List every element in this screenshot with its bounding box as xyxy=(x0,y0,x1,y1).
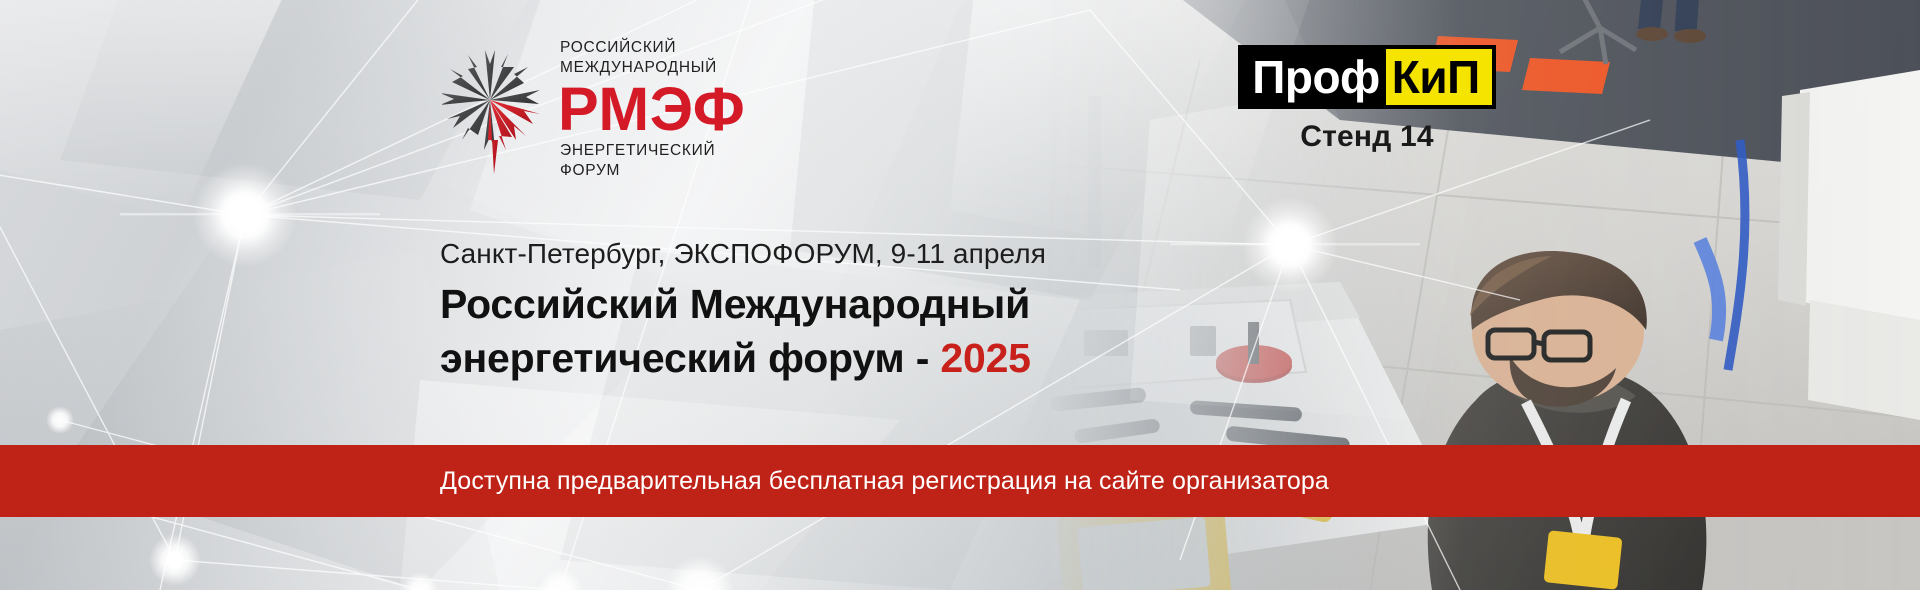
event-year: 2025 xyxy=(940,335,1030,381)
registration-notice-text: Доступна предварительная бесплатная реги… xyxy=(440,467,1329,496)
event-banner: РОССИЙСКИЙ МЕЖДУНАРОДНЫЙ РМЭФ ЭНЕРГЕТИЧЕ… xyxy=(0,0,1920,590)
profkip-logo[interactable]: Проф КиП xyxy=(1238,45,1495,109)
event-title-line-1: Российский Международный xyxy=(440,278,1340,330)
rmef-logo: РОССИЙСКИЙ МЕЖДУНАРОДНЫЙ РМЭФ ЭНЕРГЕТИЧЕ… xyxy=(442,38,745,181)
event-title-line-2: энергетический форум - 2025 xyxy=(440,332,1340,384)
rmef-line-energy: ЭНЕРГЕТИЧЕСКИЙ xyxy=(560,141,745,161)
event-title-line-2-text: энергетический форум - xyxy=(440,335,940,381)
registration-notice-strip: Доступна предварительная бесплатная реги… xyxy=(0,445,1920,517)
rmef-acronym: РМЭФ xyxy=(558,80,745,140)
rmef-wordmark: РОССИЙСКИЙ МЕЖДУНАРОДНЫЙ РМЭФ ЭНЕРГЕТИЧЕ… xyxy=(560,38,745,181)
profkip-logo-kip: КиП xyxy=(1386,49,1492,105)
rmef-line-forum: ФОРУМ xyxy=(560,161,745,181)
event-location-date: Санкт-Петербург, ЭКСПОФОРУМ, 9-11 апреля xyxy=(440,238,1340,270)
rmef-starburst-icon xyxy=(442,44,546,176)
profkip-logo-prof: Проф xyxy=(1238,45,1386,109)
headline-block: Санкт-Петербург, ЭКСПОФОРУМ, 9-11 апреля… xyxy=(440,238,1340,385)
stand-number-label: Стенд 14 xyxy=(1217,120,1517,154)
profkip-block: Проф КиП Стенд 14 xyxy=(1217,45,1517,154)
rmef-line-russian: РОССИЙСКИЙ xyxy=(560,38,745,58)
